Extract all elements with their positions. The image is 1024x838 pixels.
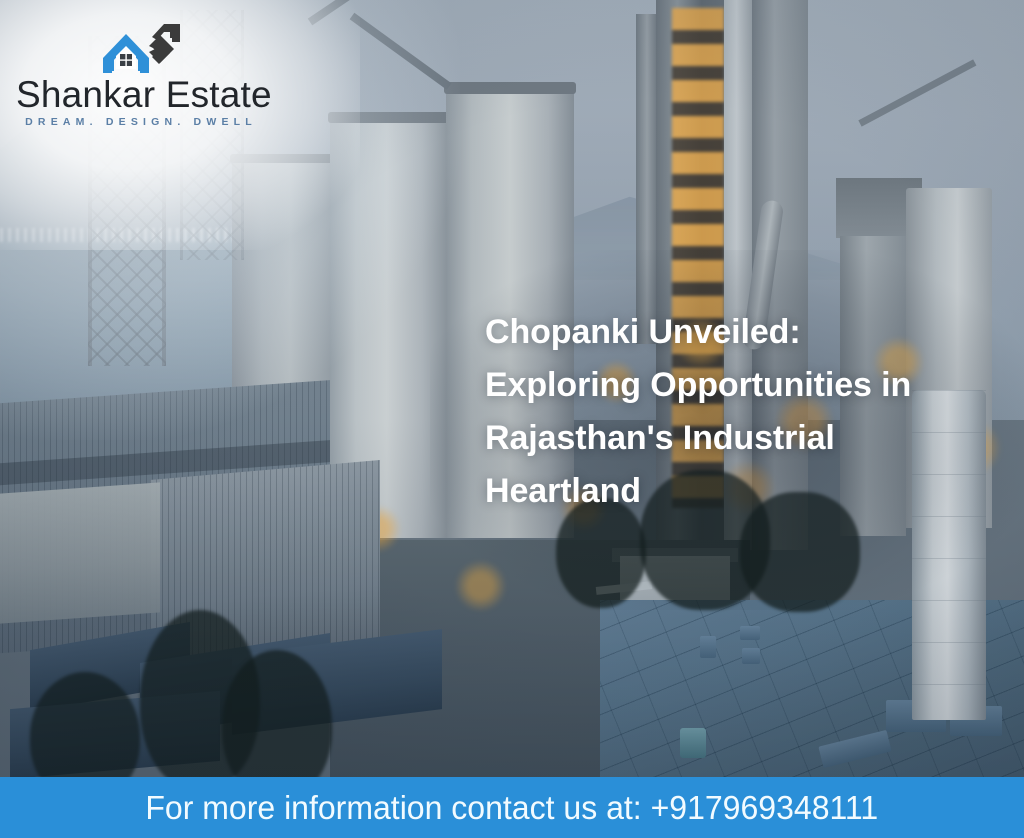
contact-footer-text[interactable]: For more information contact us at: +917… [146,789,879,827]
brand-name-text: Shankar Estate [16,74,266,116]
warehouse-pale-wall [0,482,160,623]
brand-tagline-text: DREAM. DESIGN. DWELL [16,116,266,128]
headline-line-3: Rajasthan's Industrial [485,412,985,465]
hvac-unit-5 [700,636,716,658]
headline-title: Chopanki Unveiled: Exploring Opportuniti… [485,306,985,518]
headline-line-1: Chopanki Unveiled: [485,306,985,359]
hvac-unit-4 [742,648,760,664]
poster-canvas: Shankar Estate DREAM. DESIGN. DWELL Chop… [0,0,1024,838]
house-roof-diamond-icon [103,34,149,73]
rooftop-tank [680,728,706,758]
brand-logo[interactable]: Shankar Estate DREAM. DESIGN. DWELL [16,8,266,128]
angular-arrow-diamond-icon [149,24,180,64]
headline-line-4: Heartland [485,465,985,518]
contact-footer-bar: For more information contact us at: +917… [0,777,1024,838]
silo-cap-center [444,82,576,94]
headline-line-2: Exploring Opportunities in [485,359,985,412]
hvac-unit-3 [740,626,760,640]
